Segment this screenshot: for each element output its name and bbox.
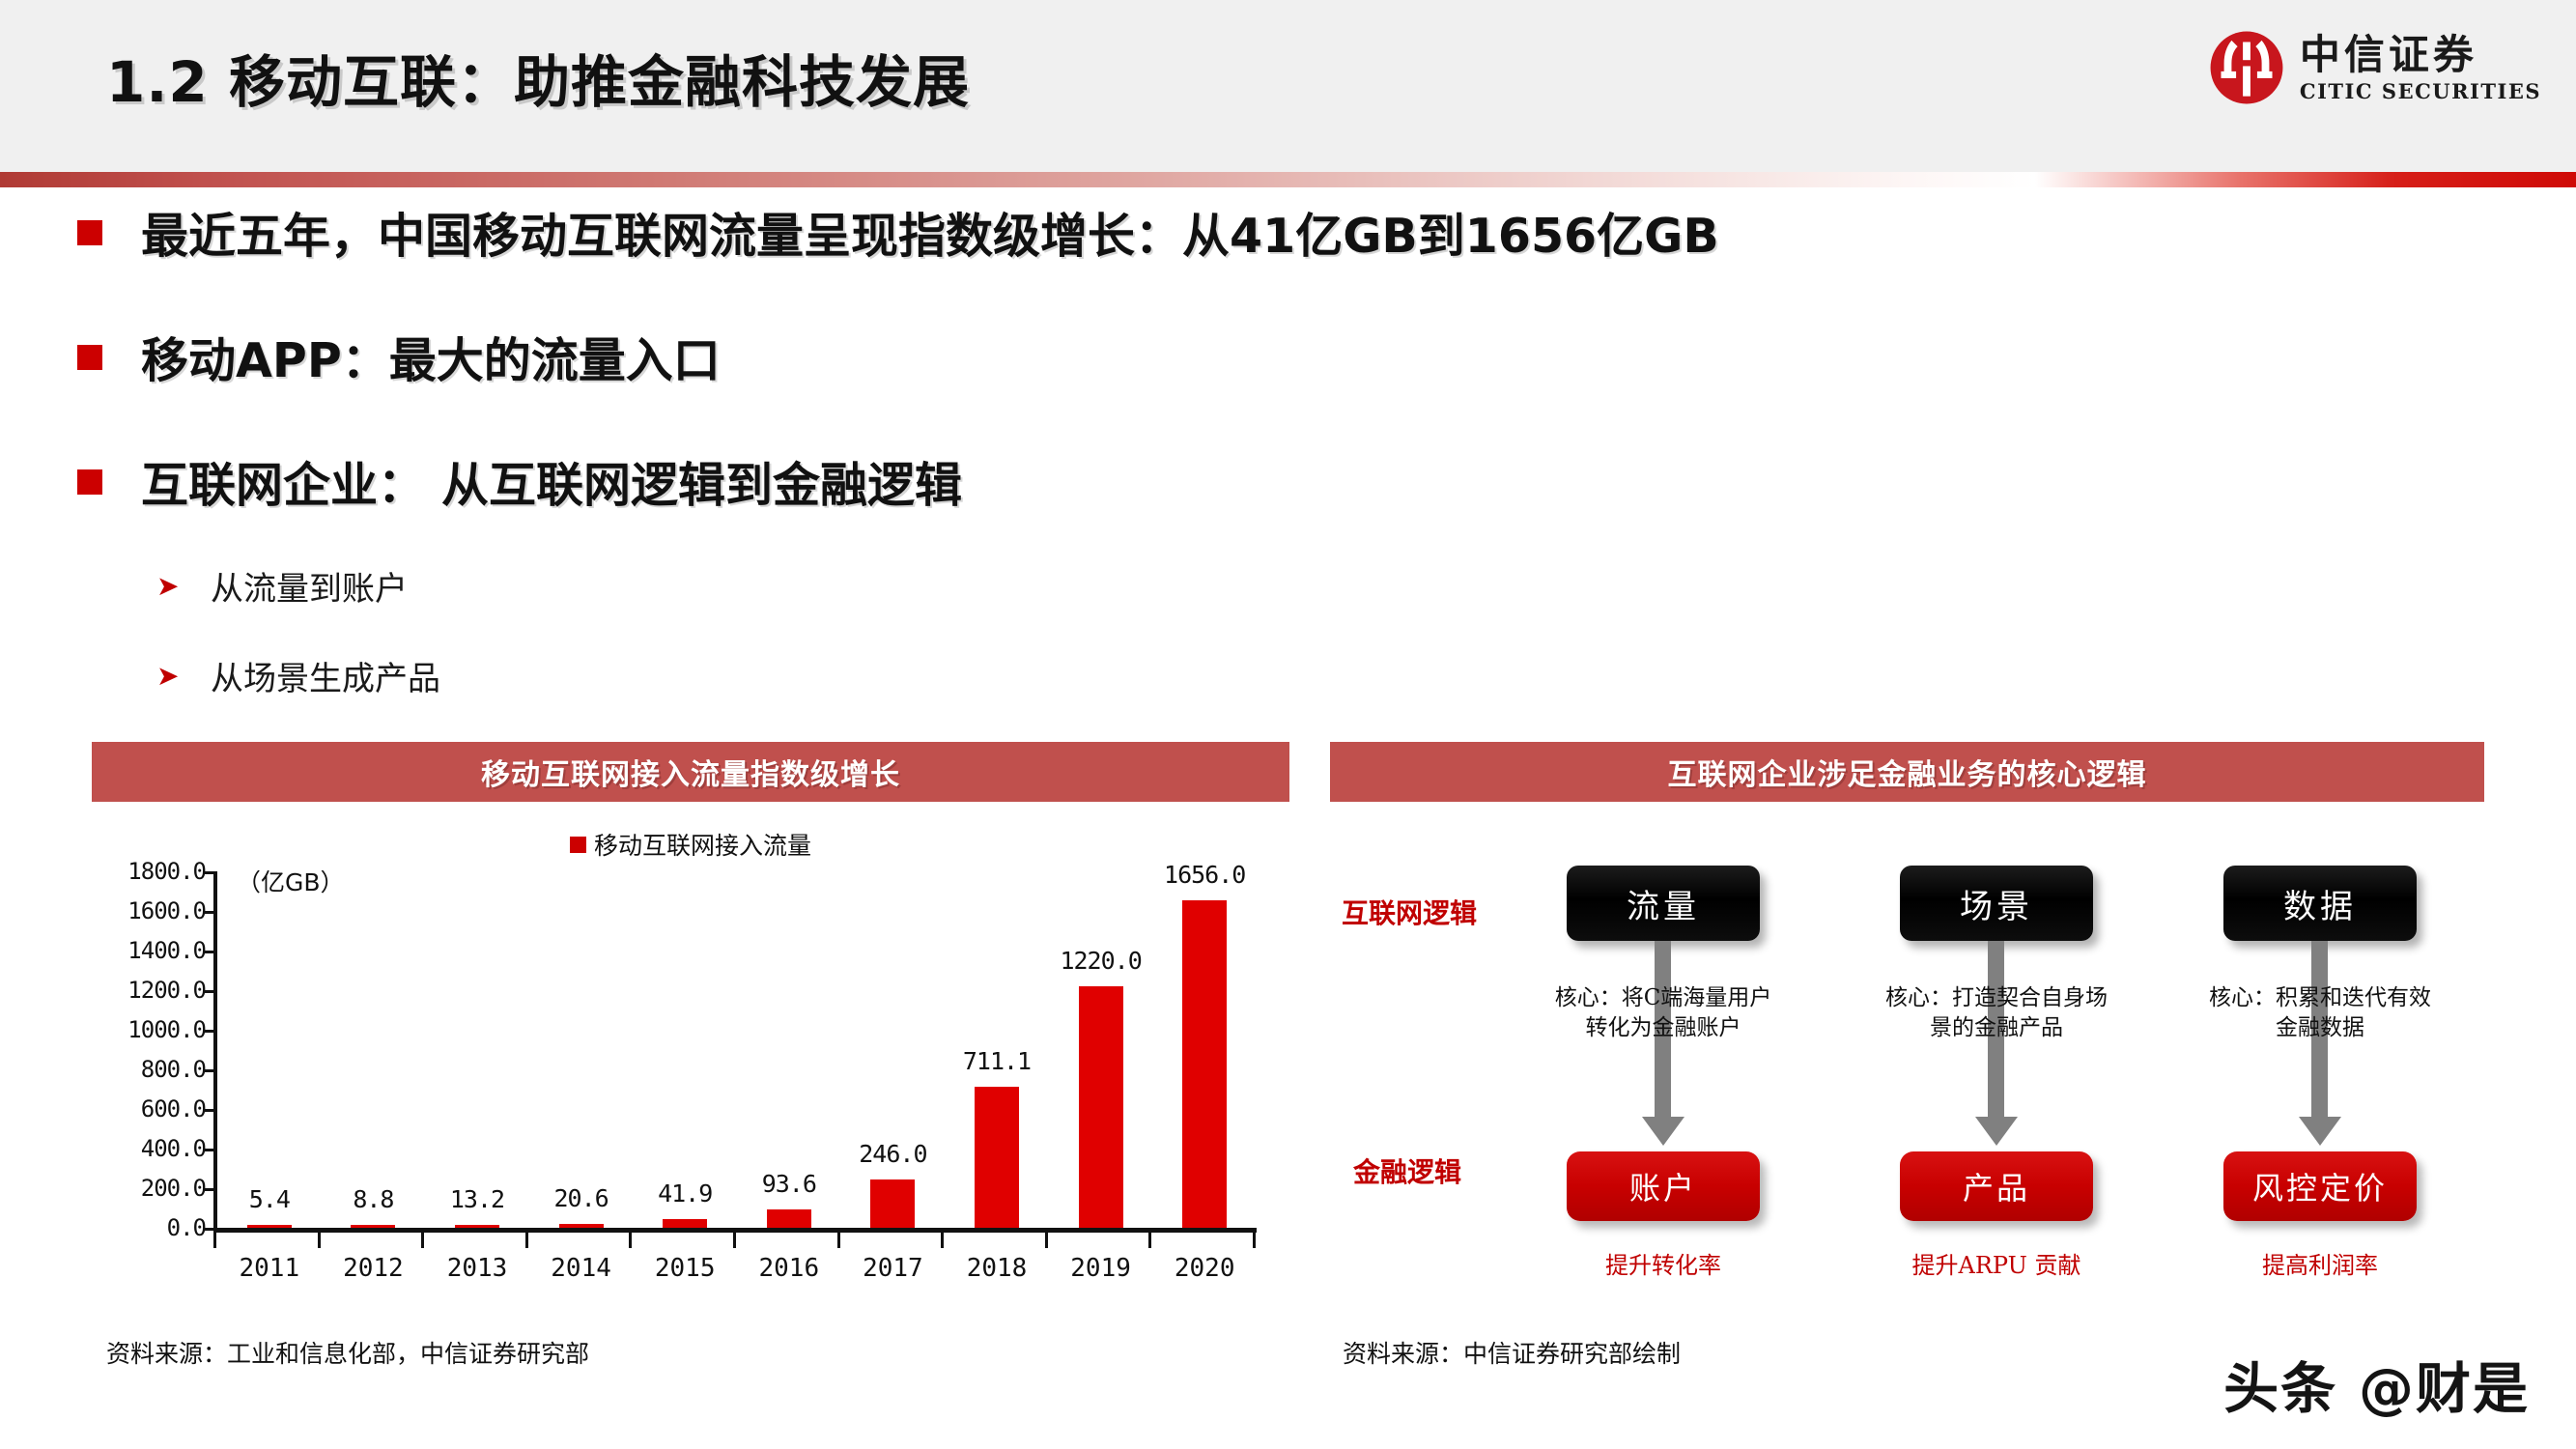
bullet-item: 最近五年，中国移动互联网流量呈现指数级增长：从41亿GB到1656亿GB: [0, 198, 2318, 267]
bullet-text: 移动APP：最大的流量入口: [141, 323, 721, 391]
y-axis-tick: [205, 990, 213, 993]
bar[interactable]: [975, 1087, 1019, 1228]
bar[interactable]: [559, 1224, 604, 1228]
node-risk-pricing: 风控定价: [2223, 1151, 2417, 1221]
x-axis-tick: [1148, 1233, 1151, 1248]
x-axis-tick: [318, 1233, 321, 1248]
y-axis-tick: [205, 1109, 213, 1112]
x-axis-category-label: 2020: [1175, 1254, 1235, 1283]
page-title: 1.2 移动互联：助推金融科技发展: [106, 37, 970, 118]
bar-value-label: 8.8: [353, 1185, 393, 1213]
bar-slot: 8.8: [322, 871, 426, 1228]
bar-slot: 93.6: [737, 871, 841, 1228]
bar-value-label: 246.0: [859, 1140, 926, 1168]
x-axis-category-label: 2012: [343, 1254, 404, 1283]
x-axis-tick: [421, 1233, 424, 1248]
square-bullet-icon: [77, 469, 102, 495]
y-axis-tick: [205, 871, 213, 874]
logo-name-cn: 中信证券: [2300, 35, 2477, 75]
arrow-head-2: [1975, 1117, 2018, 1146]
arrow-head-3: [2299, 1117, 2341, 1146]
core-text-2: 核心：打造契合自身场景的金融产品: [1885, 983, 2108, 1043]
chart-legend: 移动互联网接入流量: [92, 827, 1289, 862]
x-axis-tick: [525, 1233, 528, 1248]
node-scenario: 场景: [1900, 866, 2093, 941]
bar[interactable]: [455, 1225, 499, 1228]
x-axis-category-label: 2016: [758, 1254, 819, 1283]
kpi-text-3: 提高利润率: [2262, 1246, 2378, 1280]
bar-slot: 5.4: [217, 871, 322, 1228]
bar[interactable]: [351, 1225, 395, 1228]
bar-slot: 711.1: [945, 871, 1049, 1228]
node-traffic: 流量: [1567, 866, 1760, 941]
x-axis-tick: [941, 1233, 944, 1248]
legend-swatch-icon: [570, 837, 586, 853]
logo-name-en: CITIC SECURITIES: [2300, 81, 2541, 101]
sub-bullet-item: ➤ 从场景生成产品: [156, 652, 2318, 699]
watermark: 头条 @财是: [2223, 1345, 2530, 1424]
x-axis-category-label: 2014: [551, 1254, 611, 1283]
bar-value-label: 1656.0: [1164, 861, 1245, 889]
x-axis-tick: [837, 1233, 840, 1248]
y-axis-tick-label: 1200.0: [127, 977, 206, 1004]
sub-bullet-text: 从场景生成产品: [211, 652, 440, 699]
header-gradient-rule: [0, 172, 2576, 187]
node-product: 产品: [1900, 1151, 2093, 1221]
square-bullet-icon: [77, 220, 102, 245]
left-panel-title: 移动互联网接入流量指数级增长: [92, 742, 1289, 802]
y-axis-tick: [205, 951, 213, 953]
node-account: 账户: [1567, 1151, 1760, 1221]
x-axis-category-label: 2017: [863, 1254, 923, 1283]
arrow-head-1: [1642, 1117, 1684, 1146]
node-data: 数据: [2223, 866, 2417, 941]
logo-text: 中信证券 CITIC SECURITIES: [2300, 35, 2541, 101]
legend-label: 移动互联网接入流量: [594, 827, 811, 862]
y-axis-tick-label: 1000.0: [127, 1016, 206, 1043]
y-axis-tick-label: 1600.0: [127, 897, 206, 924]
y-axis-tick: [205, 1069, 213, 1072]
bar[interactable]: [767, 1209, 811, 1228]
y-axis-tick-label: 0.0: [167, 1214, 206, 1241]
y-axis-tick: [205, 1228, 213, 1231]
y-axis-tick-label: 600.0: [141, 1095, 206, 1122]
bullet-item: 互联网企业： 从互联网逻辑到金融逻辑: [0, 447, 2318, 516]
y-axis-tick: [205, 911, 213, 914]
bar-slot: 1220.0: [1049, 871, 1153, 1228]
y-axis-tick-label: 200.0: [141, 1175, 206, 1202]
x-axis-tick: [733, 1233, 736, 1248]
core-text-1: 核心：将C端海量用户转化为金融账户: [1552, 983, 1774, 1043]
right-panel-title: 互联网企业涉足金融业务的核心逻辑: [1330, 742, 2484, 802]
x-axis-tick: [213, 1233, 216, 1248]
kpi-text-2: 提升ARPU 贡献: [1912, 1246, 2081, 1280]
kpi-text-1: 提升转化率: [1605, 1246, 1721, 1280]
left-source-note: 资料来源：工业和信息化部，中信证券研究部: [106, 1335, 589, 1370]
y-axis-tick-label: 400.0: [141, 1135, 206, 1162]
arrow-bullet-icon: ➤: [156, 660, 211, 692]
row-label-internet-logic: 互联网逻辑: [1342, 893, 1477, 931]
x-axis-category-label: 2019: [1070, 1254, 1131, 1283]
square-bullet-icon: [77, 345, 102, 370]
y-axis-tick: [205, 1030, 213, 1033]
sub-bullet-item: ➤ 从流量到账户: [156, 562, 2318, 610]
x-axis-category-label: 2013: [447, 1254, 508, 1283]
bar[interactable]: [247, 1225, 292, 1228]
slide: 1.2 移动互联：助推金融科技发展 中信证券 CITIC SECURITIES …: [0, 0, 2576, 1449]
bar[interactable]: [1182, 900, 1227, 1228]
bar[interactable]: [1079, 986, 1123, 1228]
bar-chart: 移动互联网接入流量 （亿GB） 0.0200.0400.0600.0800.01…: [92, 811, 1289, 1352]
sub-bullet-text: 从流量到账户: [211, 562, 408, 610]
bullet-text: 最近五年，中国移动互联网流量呈现指数级增长：从41亿GB到1656亿GB: [141, 198, 1719, 267]
bar-value-label: 1220.0: [1060, 947, 1141, 975]
bar-value-label: 5.4: [249, 1185, 290, 1213]
bullet-list: 最近五年，中国移动互联网流量呈现指数级增长：从41亿GB到1656亿GB 移动A…: [0, 198, 2318, 832]
y-axis-tick: [205, 1149, 213, 1151]
bar-value-label: 711.1: [963, 1047, 1031, 1075]
bullet-item: 移动APP：最大的流量入口: [0, 323, 2318, 391]
bar-value-label: 41.9: [658, 1179, 712, 1207]
bar-slot: 1656.0: [1152, 871, 1257, 1228]
y-axis-tick-label: 800.0: [141, 1056, 206, 1083]
bar-slot: 246.0: [841, 871, 946, 1228]
bar-slot: 20.6: [529, 871, 634, 1228]
right-source-note: 资料来源：中信证券研究部绘制: [1343, 1335, 1681, 1370]
chart-bars: 5.48.813.220.641.993.6246.0711.11220.016…: [217, 871, 1257, 1228]
bullet-text: 互联网企业： 从互联网逻辑到金融逻辑: [141, 447, 962, 516]
citic-logo: 中信证券 CITIC SECURITIES: [2209, 23, 2541, 112]
bar-slot: 13.2: [425, 871, 529, 1228]
x-axis-category-label: 2011: [239, 1254, 299, 1283]
citic-circle-logo-icon: [2209, 30, 2284, 105]
bar-value-label: 93.6: [762, 1170, 816, 1198]
x-axis-category-label: 2015: [655, 1254, 716, 1283]
logic-diagram: 互联网逻辑 金融逻辑 流量 核心：将C端海量用户转化为金融账户 账户 提升转化率…: [1330, 811, 2484, 1352]
x-axis-tick: [1253, 1233, 1256, 1248]
y-axis-tick-label: 1800.0: [127, 858, 206, 885]
bar[interactable]: [870, 1179, 915, 1228]
x-axis-tick: [629, 1233, 632, 1248]
bar-value-label: 13.2: [450, 1185, 504, 1213]
bar[interactable]: [663, 1219, 707, 1228]
row-label-finance-logic: 金融逻辑: [1353, 1151, 1461, 1190]
y-axis-labels: 0.0200.0400.0600.0800.01000.01200.01400.…: [92, 871, 206, 1231]
x-axis-tick: [1045, 1233, 1048, 1248]
y-axis-tick-label: 1400.0: [127, 937, 206, 964]
chart-plot-area: （亿GB） 0.0200.0400.0600.0800.01000.01200.…: [92, 871, 1289, 1287]
core-text-3: 核心：积累和迭代有效金融数据: [2209, 983, 2431, 1043]
bar-value-label: 20.6: [553, 1184, 608, 1212]
bar-slot: 41.9: [633, 871, 737, 1228]
y-axis-tick: [205, 1188, 213, 1191]
x-axis-category-label: 2018: [967, 1254, 1028, 1283]
arrow-bullet-icon: ➤: [156, 570, 211, 602]
